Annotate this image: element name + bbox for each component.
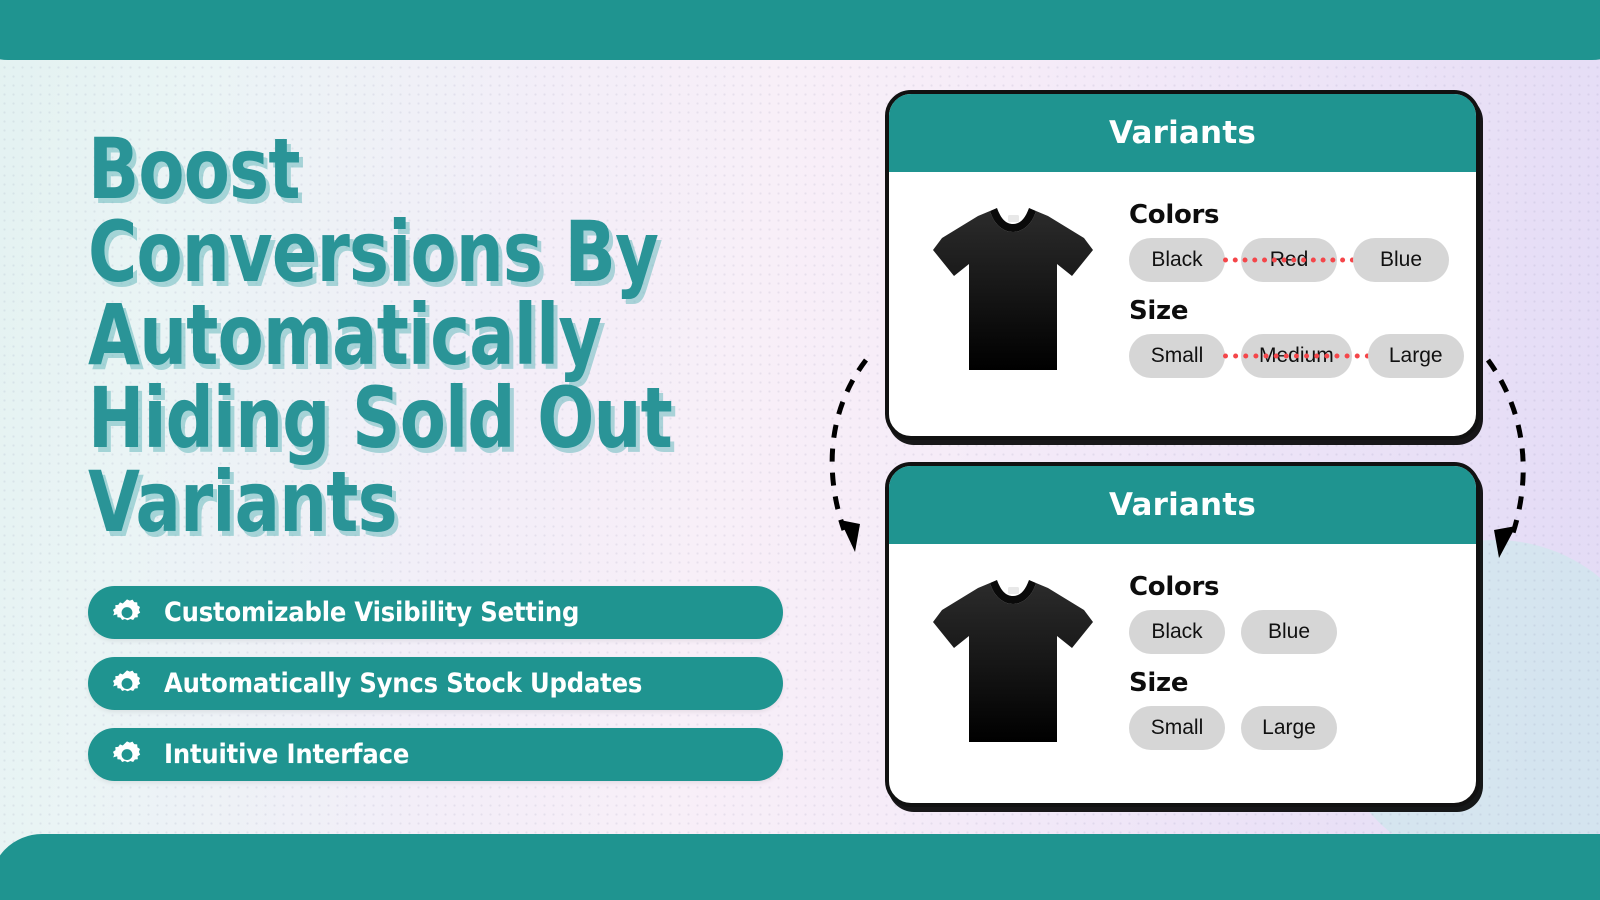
chip-label: Small — [1151, 716, 1204, 740]
group-label-size: Size — [1129, 668, 1450, 698]
chip-label: Blue — [1268, 620, 1310, 644]
group-label-colors: Colors — [1129, 572, 1450, 602]
top-accent-bar — [0, 0, 1600, 60]
variant-chip-small[interactable]: Small — [1129, 706, 1225, 750]
variant-groups: Colors Black Blue Size Small Large — [1129, 568, 1450, 785]
gear-icon — [110, 596, 144, 630]
gear-icon — [110, 738, 144, 772]
variant-groups: Colors Black Red Blue Size Small Medium … — [1129, 196, 1464, 418]
variant-chip-blue[interactable]: Blue — [1241, 610, 1337, 654]
feature-list: Customizable Visibility Setting Automati… — [88, 586, 783, 781]
card-body: Colors Black Blue Size Small Large — [889, 544, 1476, 803]
product-image-black-tshirt — [923, 568, 1103, 785]
card-body: Colors Black Red Blue Size Small Medium … — [889, 172, 1476, 436]
chip-label: Large — [1262, 716, 1316, 740]
chip-label: Black — [1151, 620, 1202, 644]
variant-chip-red-soldout[interactable]: Red — [1241, 238, 1337, 282]
chip-label: Black — [1151, 248, 1202, 272]
feature-label: Intuitive Interface — [164, 739, 409, 770]
feature-item-3: Intuitive Interface — [88, 728, 783, 781]
chip-label: Large — [1389, 344, 1443, 368]
feature-label: Customizable Visibility Setting — [164, 597, 579, 628]
variants-card-after: Variants Colors — [885, 462, 1480, 807]
size-options: Small Medium Large — [1129, 334, 1464, 378]
chip-label: Red — [1270, 248, 1309, 272]
size-options: Small Large — [1129, 706, 1450, 750]
variants-card-before: Variants Colors — [885, 90, 1480, 440]
chip-label: Medium — [1259, 344, 1334, 368]
poster-canvas: Boost Conversions By Automatically Hidin… — [0, 0, 1600, 900]
color-options: Black Blue — [1129, 610, 1450, 654]
gear-icon — [110, 667, 144, 701]
card-title: Variants — [1109, 487, 1256, 523]
feature-item-1: Customizable Visibility Setting — [88, 586, 783, 639]
feature-label: Automatically Syncs Stock Updates — [164, 668, 642, 699]
group-label-colors: Colors — [1129, 200, 1464, 230]
bottom-accent-bar — [0, 834, 1600, 900]
chip-label: Blue — [1380, 248, 1422, 272]
variant-chip-medium-soldout[interactable]: Medium — [1241, 334, 1352, 378]
variant-chip-large[interactable]: Large — [1368, 334, 1464, 378]
arrow-right-icon — [1466, 352, 1556, 587]
product-image-black-tshirt — [923, 196, 1103, 418]
variant-chip-black[interactable]: Black — [1129, 610, 1225, 654]
variant-chip-blue[interactable]: Blue — [1353, 238, 1449, 282]
chip-label: Small — [1151, 344, 1204, 368]
variant-chip-black[interactable]: Black — [1129, 238, 1225, 282]
color-options: Black Red Blue — [1129, 238, 1464, 282]
card-header: Variants — [889, 94, 1476, 172]
group-label-size: Size — [1129, 296, 1464, 326]
card-title: Variants — [1109, 115, 1256, 151]
variant-chip-small[interactable]: Small — [1129, 334, 1225, 378]
page-title: Boost Conversions By Automatically Hidin… — [88, 128, 696, 544]
arrow-left-icon — [808, 352, 888, 577]
variant-chip-large[interactable]: Large — [1241, 706, 1337, 750]
feature-item-2: Automatically Syncs Stock Updates — [88, 657, 783, 710]
card-header: Variants — [889, 466, 1476, 544]
